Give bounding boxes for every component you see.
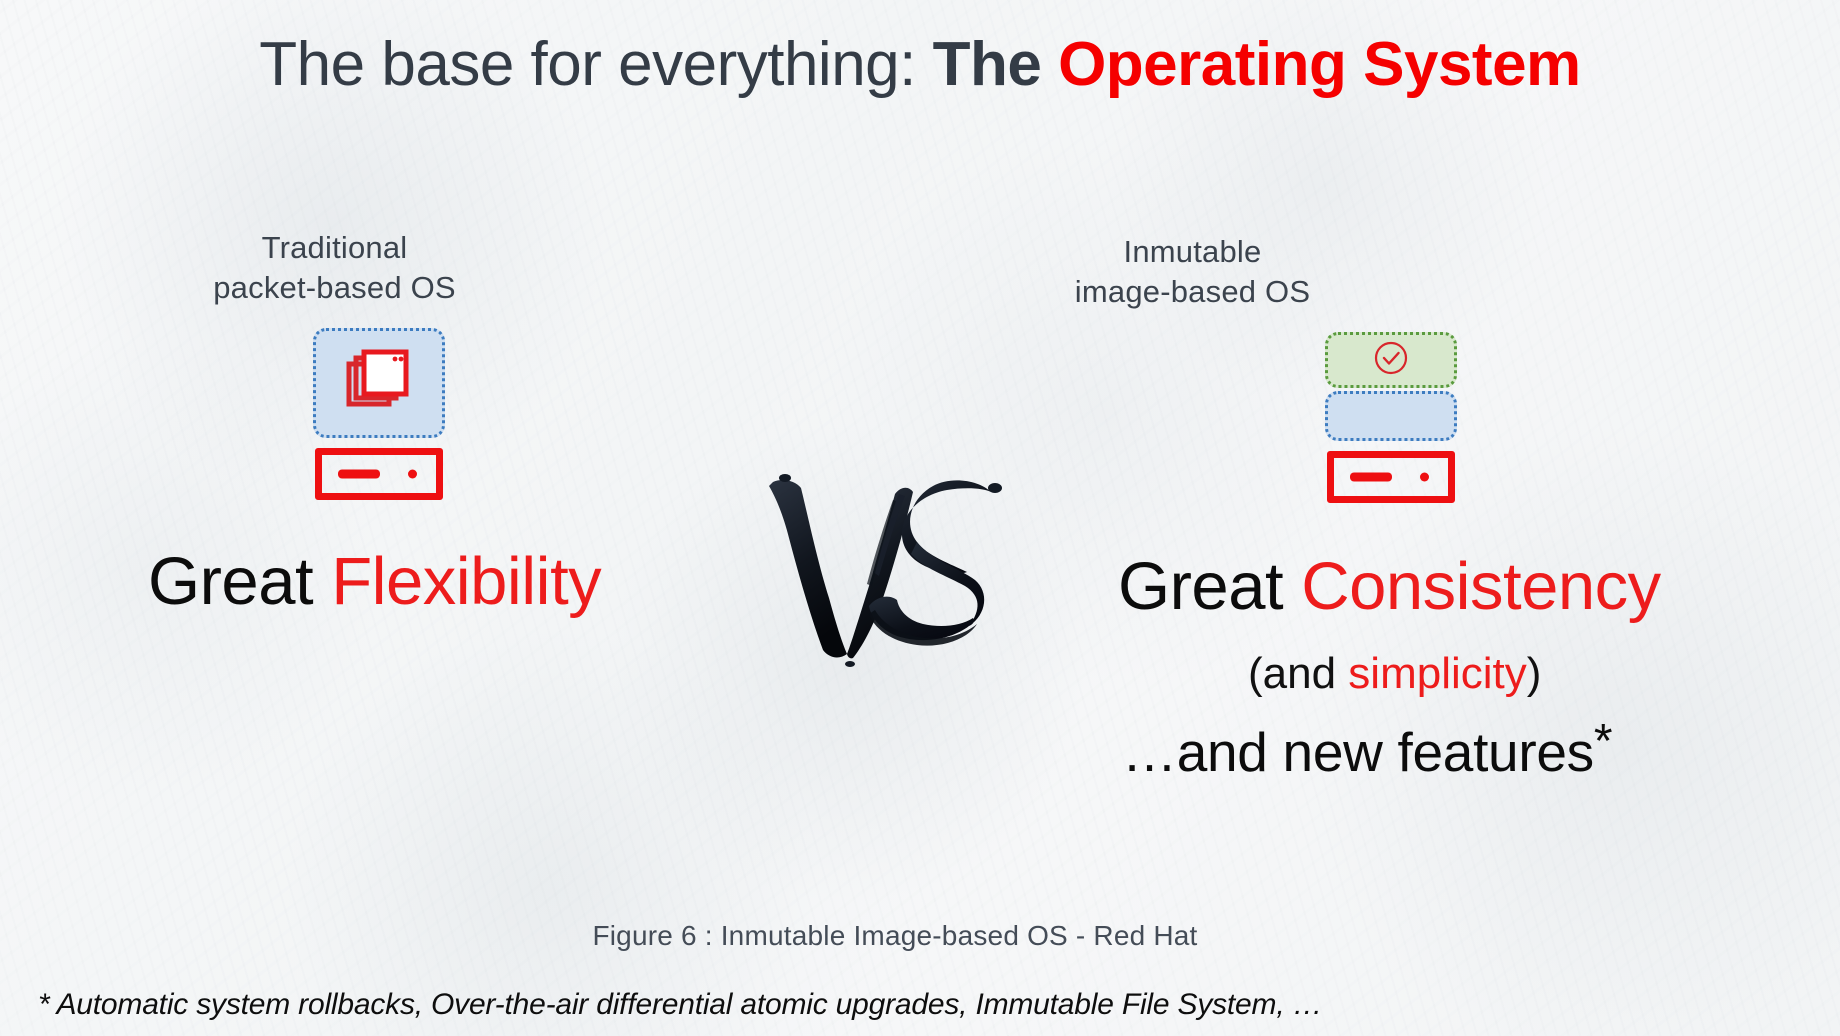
footnote: * Automatic system rollbacks, Over-the-a… [38,988,1322,1022]
title-dark-word: The [933,30,1042,99]
packages-panel [313,328,445,438]
server-slot-bar [1350,473,1392,482]
base-image-panel [1325,391,1457,441]
right-statement-plain: Great [1118,549,1301,624]
right-column-label: Inmutable image-based OS [1020,232,1365,313]
server-led-dot [408,470,417,479]
left-statement-red: Flexibility [331,544,601,619]
server-icon [315,448,443,500]
right-features-line: …and new features* [1122,716,1612,783]
check-circle-icon [1372,339,1410,382]
features-text: …and new features [1122,721,1594,783]
versus-brush-icon [755,468,1020,668]
sub-red-word: simplicity [1348,649,1526,698]
image-verified-panel [1325,332,1457,388]
left-label-line1: Traditional [162,228,507,268]
left-label-line2: packet-based OS [162,268,507,308]
right-sub-statement: (and simplicity) [1248,650,1541,698]
server-led-dot [1420,473,1429,482]
server-slot-bar [338,470,380,479]
right-statement: Great Consistency [1118,550,1661,624]
title-red-words: Operating System [1041,30,1580,99]
title-prefix: The base for everything: [259,30,932,99]
sub-open-paren: (and [1248,649,1348,698]
left-statement-plain: Great [148,544,331,619]
right-icon-stack [1325,332,1457,503]
right-statement-red: Consistency [1301,549,1660,624]
right-label-line2: image-based OS [1020,272,1365,312]
right-label-line1: Inmutable [1020,232,1365,272]
sub-close-paren: ) [1527,649,1542,698]
figure-caption: Figure 6 : Inmutable Image-based OS - Re… [0,920,1790,952]
features-footnote-marker: * [1594,715,1612,768]
layers-icon [345,348,413,419]
server-icon [1327,451,1455,503]
page-title: The base for everything: The Operating S… [130,18,1710,112]
left-icon-stack [313,328,445,500]
slide-canvas: The base for everything: The Operating S… [0,0,1840,1036]
left-statement: Great Flexibility [148,545,601,619]
left-column-label: Traditional packet-based OS [162,228,507,309]
